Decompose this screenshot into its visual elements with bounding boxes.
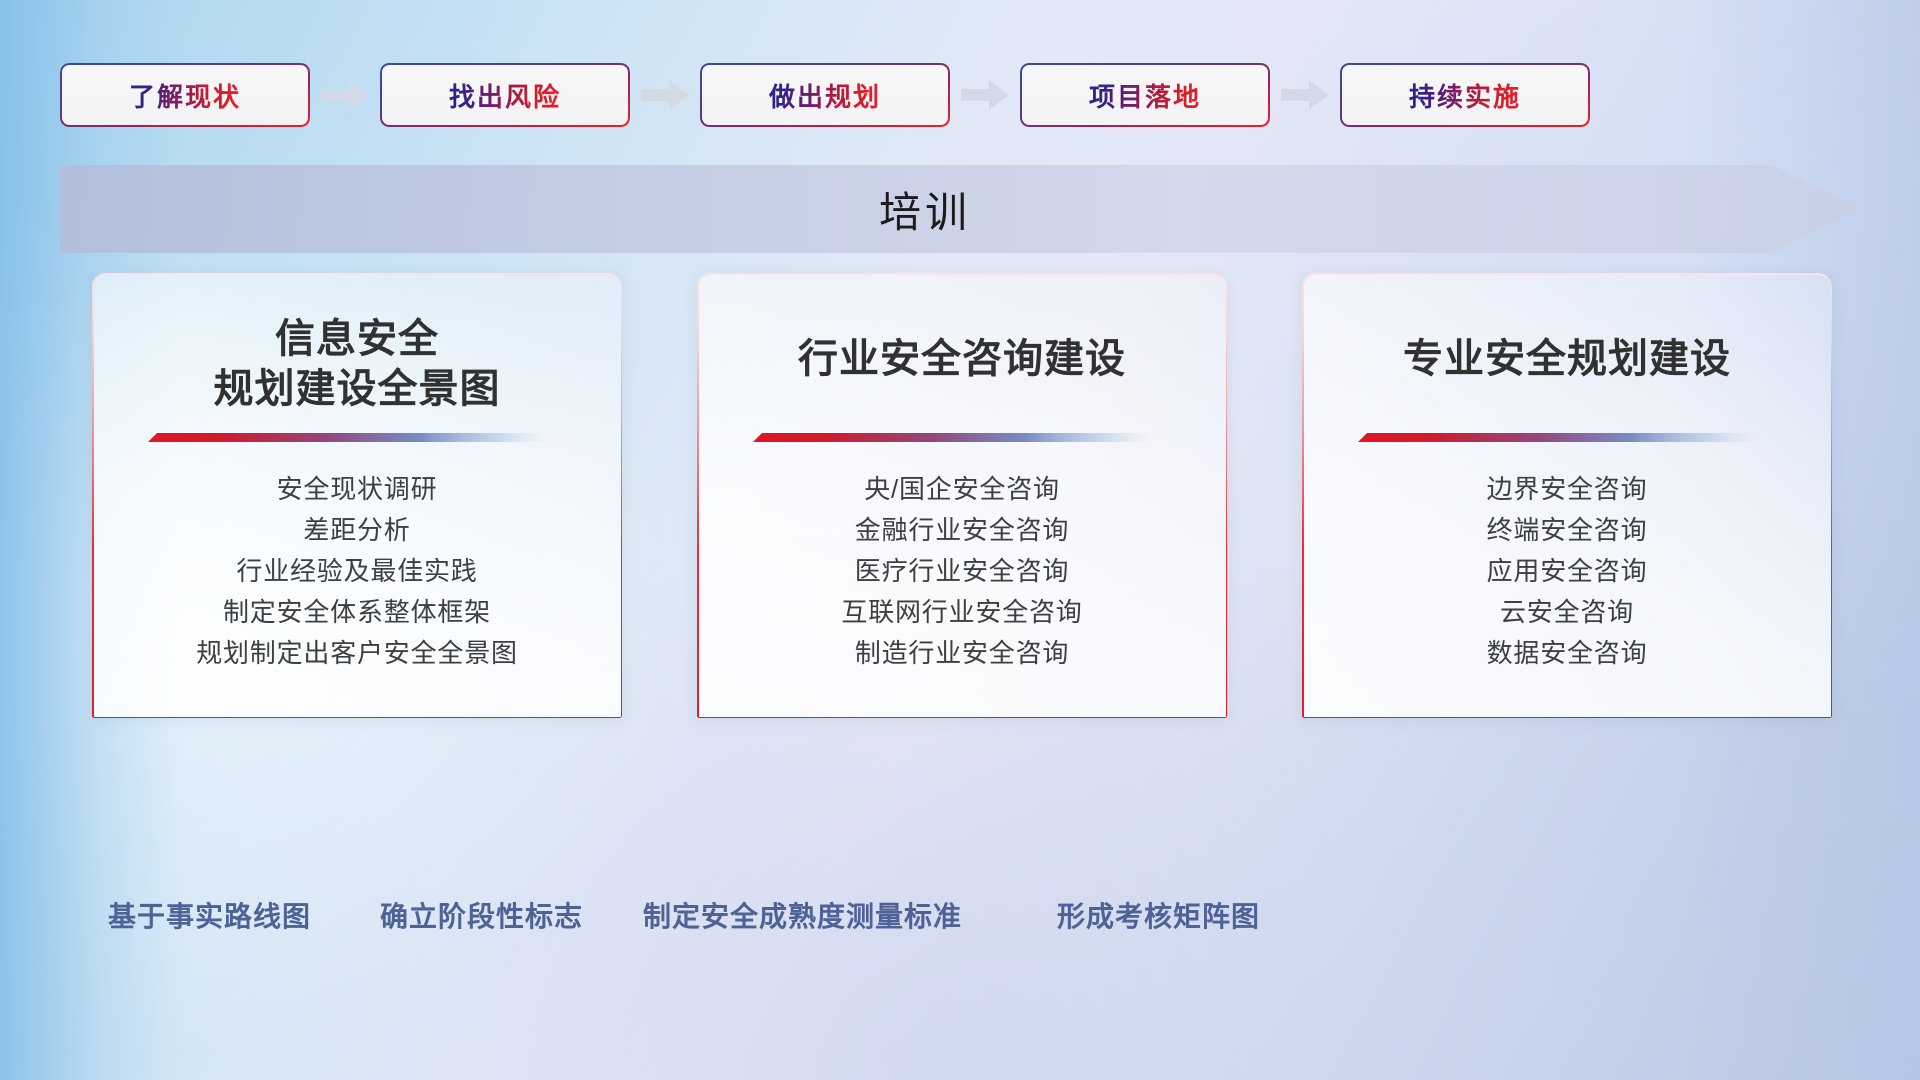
step-box-1[interactable]: 了解现状 xyxy=(60,63,310,127)
list-item: 终端安全咨询 xyxy=(1302,510,1832,551)
card-professional-security-planning[interactable]: 专业安全规划建设 xyxy=(1302,273,1832,718)
step-label-2: 找出风险 xyxy=(449,77,561,114)
list-item: 互联网行业安全咨询 xyxy=(697,592,1227,633)
caption-roadmap: 基于事实路线图 xyxy=(108,895,311,935)
right-arrow-icon xyxy=(1281,80,1329,110)
card-accent-bar-icon xyxy=(148,433,548,442)
list-item: 医疗行业安全咨询 xyxy=(697,551,1227,592)
step-box-4[interactable]: 项目落地 xyxy=(1020,63,1270,127)
right-arrow-icon xyxy=(321,80,369,110)
banner-label: 培训 xyxy=(60,165,1790,253)
caption-row: 基于事实路线图 确立阶段性标志 制定安全成熟度测量标准 形成考核矩阵图 xyxy=(0,895,1920,951)
step-label-3: 做出规划 xyxy=(769,77,881,114)
process-step-row: 了解现状 找出风险 做出规划 项目落地 xyxy=(60,62,1860,128)
card-accent-bar-icon xyxy=(753,433,1153,442)
card-title: 行业安全咨询建设 xyxy=(697,335,1227,385)
right-arrow-icon xyxy=(961,80,1009,110)
list-item: 央/国企安全咨询 xyxy=(697,469,1227,510)
list-item: 差距分析 xyxy=(92,510,622,551)
list-item: 应用安全咨询 xyxy=(1302,551,1832,592)
card-title-line: 信息安全 xyxy=(118,315,596,365)
step-box-3[interactable]: 做出规划 xyxy=(700,63,950,127)
card-row: 信息安全 规划建设全景图 xyxy=(92,273,1832,718)
card-title: 信息安全 规划建设全景图 xyxy=(92,315,622,414)
card-item-list: 边界安全咨询 终端安全咨询 应用安全咨询 云安全咨询 数据安全咨询 xyxy=(1302,469,1832,674)
step-label-5: 持续实施 xyxy=(1409,77,1521,114)
card-title-line: 行业安全咨询建设 xyxy=(723,335,1201,385)
step-box-5[interactable]: 持续实施 xyxy=(1340,63,1590,127)
list-item: 云安全咨询 xyxy=(1302,592,1832,633)
list-item: 制定安全体系整体框架 xyxy=(92,592,622,633)
step-label-1: 了解现状 xyxy=(129,77,241,114)
card-accent-bar-icon xyxy=(1358,433,1758,442)
card-title-line: 专业安全规划建设 xyxy=(1328,335,1806,385)
card-industry-security-consulting[interactable]: 行业安全咨询建设 xyxy=(697,273,1227,718)
card-item-list: 央/国企安全咨询 金融行业安全咨询 医疗行业安全咨询 互联网行业安全咨询 制造行… xyxy=(697,469,1227,674)
list-item: 数据安全咨询 xyxy=(1302,633,1832,674)
caption-milestones: 确立阶段性标志 xyxy=(380,895,583,935)
list-item: 规划制定出客户安全全景图 xyxy=(92,633,622,674)
list-item: 安全现状调研 xyxy=(92,469,622,510)
list-item: 金融行业安全咨询 xyxy=(697,510,1227,551)
slide-canvas: 了解现状 找出风险 做出规划 项目落地 xyxy=(0,0,1920,1080)
step-box-2[interactable]: 找出风险 xyxy=(380,63,630,127)
caption-review-matrix: 形成考核矩阵图 xyxy=(1057,895,1260,935)
card-title-line: 规划建设全景图 xyxy=(118,365,596,415)
caption-maturity-scale: 制定安全成熟度测量标准 xyxy=(643,895,962,935)
list-item: 行业经验及最佳实践 xyxy=(92,551,622,592)
card-information-security-blueprint[interactable]: 信息安全 规划建设全景图 xyxy=(92,273,622,718)
step-label-4: 项目落地 xyxy=(1089,77,1201,114)
card-item-list: 安全现状调研 差距分析 行业经验及最佳实践 制定安全体系整体框架 规划制定出客户… xyxy=(92,469,622,674)
training-banner: 培训 xyxy=(60,165,1860,253)
right-arrow-icon xyxy=(641,80,689,110)
card-title: 专业安全规划建设 xyxy=(1302,335,1832,385)
list-item: 制造行业安全咨询 xyxy=(697,633,1227,674)
list-item: 边界安全咨询 xyxy=(1302,469,1832,510)
